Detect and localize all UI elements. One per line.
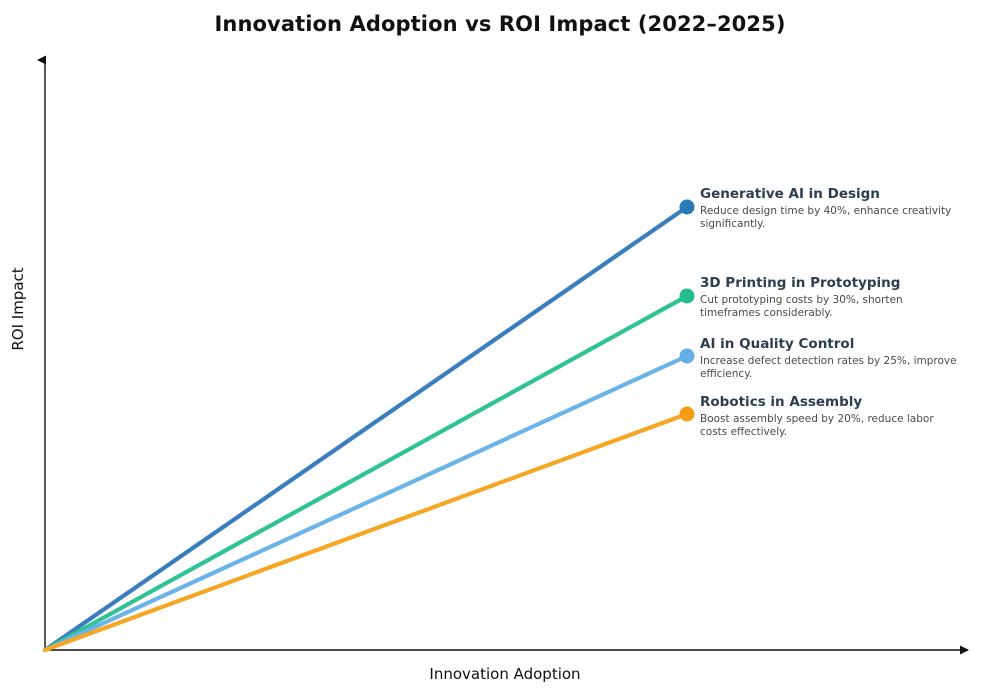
series-annotation-generative-ai-in-design: Generative AI in Design Reduce design ti… [700,187,958,232]
series-annotation-description: Cut prototyping costs by 30%, shorten ti… [700,294,958,322]
series-annotation-robotics-in-assembly: Robotics in Assembly Boost assembly spee… [700,395,958,440]
series-annotation-title: 3D Printing in Prototyping [700,276,958,292]
series-endpoint-marker [680,349,695,364]
series-annotation-description: Reduce design time by 40%, enhance creat… [700,205,958,233]
series-endpoint-marker [680,289,695,304]
series-annotation-title: Generative AI in Design [700,187,958,203]
series-annotation-description: Increase defect detection rates by 25%, … [700,355,958,383]
series-annotation-ai-in-quality-control: AI in Quality Control Increase defect de… [700,337,958,382]
series-annotation-3d-printing-in-prototyping: 3D Printing in Prototyping Cut prototypi… [700,276,958,321]
series-endpoint-marker [680,200,695,215]
series-annotation-description: Boost assembly speed by 20%, reduce labo… [700,413,958,441]
chart-figure: Innovation Adoption vs ROI Impact (2022–… [0,0,1000,700]
series-line-ai-in-quality-control [45,349,695,651]
series-annotation-title: AI in Quality Control [700,337,958,353]
series-line-generative-ai-in-design [45,200,695,651]
y-axis-label: ROI Impact [9,259,27,359]
series-endpoint-marker [680,407,695,422]
series-annotation-title: Robotics in Assembly [700,395,958,411]
series-line-3d-printing-in-prototyping [45,289,695,651]
series-line-robotics-in-assembly [45,407,695,651]
x-axis-label: Innovation Adoption [330,665,680,683]
